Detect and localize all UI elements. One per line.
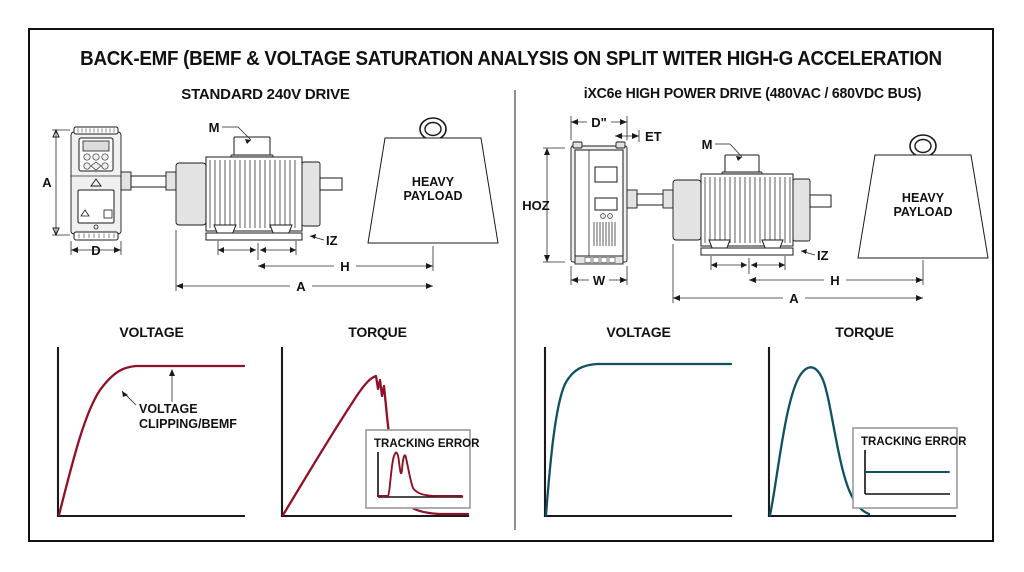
svg-text:D: D [91,243,100,258]
svg-text:IZ: IZ [326,233,338,248]
annotation-line1: VOLTAGE [139,402,198,416]
svg-text:H: H [830,273,839,288]
mechanical-assembly-ixc6e: D" ET [525,110,980,310]
dimension-h-ixc6e: H [749,260,923,288]
chart-svg-torque-standard: TRACKING ERROR [270,344,485,532]
svg-text:IZ: IZ [817,248,829,263]
chart-label-voltage-standard: VOLTAGE [44,324,259,340]
svg-text:H: H [340,259,349,274]
svg-text:A: A [296,279,306,294]
diagram-frame: BACK-EMF (BEMF & VOLTAGE SATURATION ANAL… [28,28,994,542]
inset-label-standard: TRACKING ERROR [374,438,480,450]
dimension-d-standard: D [71,241,121,258]
chart-svg-voltage-standard: VOLTAGE CLIPPING/BEMF [44,344,259,532]
chart-torque-ixc6e: TORQUE TRACKING ERROR [757,324,972,534]
svg-text:W: W [593,273,606,288]
svg-text:HEAVY: HEAVY [412,175,455,189]
panel-heading-standard: STANDARD 240V DRIVE [38,86,493,103]
dimension-iz-span-ixc6e [711,256,785,274]
motor-standard: M [176,120,342,240]
dimension-hoz-ixc6e: HOZ [522,148,565,262]
svg-text:M: M [209,120,220,135]
chart-label-torque-ixc6e: TORQUE [757,324,972,340]
panel-heading-ixc6e: iXC6e HIGH POWER DRIVE (480VAC / 680VDC … [532,86,973,102]
svg-text:M: M [702,137,713,152]
page-title: BACK-EMF (BEMF & VOLTAGE SATURATION ANAL… [59,48,963,71]
dimension-iz-standard: IZ [310,233,338,248]
svg-text:PAYLOAD: PAYLOAD [403,189,462,203]
charts-ixc6e: VOLTAGE TORQUE TRACKING ERROR [525,324,980,534]
svg-text:HOZ: HOZ [522,198,550,213]
svg-text:A: A [789,291,799,306]
heavy-payload-standard: HEAVY PAYLOAD [368,118,498,243]
svg-text:D": D" [591,115,607,130]
panel-divider [514,90,516,530]
vfd-drive-standard [71,127,121,240]
shaft-coupling-ixc6e [627,190,673,208]
chart-voltage-ixc6e: VOLTAGE [531,324,746,534]
chart-svg-torque-ixc6e: TRACKING ERROR [757,344,972,532]
dimension-iz-span-standard [218,241,296,260]
dimension-w-ixc6e: W [571,266,627,288]
chart-label-voltage-ixc6e: VOLTAGE [531,324,746,340]
vfd-drive-ixc6e [571,142,627,264]
chart-svg-voltage-ixc6e [531,344,746,532]
svg-text:A: A [42,175,52,190]
chart-torque-standard: TORQUE TRACKING ERROR [270,324,485,534]
dimension-iz-ixc6e: IZ [801,248,829,263]
chart-label-torque-standard: TORQUE [270,324,485,340]
dimension-a-vertical-standard: A [42,130,70,235]
charts-standard: VOLTAGE VOLTAGE CLIPPING/BEMF [38,324,493,534]
svg-text:ET: ET [645,129,662,144]
panel-standard-drive: STANDARD 240V DRIVE A [38,86,493,536]
svg-text:PAYLOAD: PAYLOAD [893,205,952,219]
inset-label-ixc6e: TRACKING ERROR [861,436,967,448]
mechanical-assembly-standard: A [38,110,493,310]
annotation-line2: CLIPPING/BEMF [139,417,237,431]
shaft-coupling-standard [121,172,176,190]
diagram-sheet: BACK-EMF (BEMF & VOLTAGE SATURATION ANAL… [0,0,1024,572]
motor-ixc6e: M [673,137,831,255]
chart-voltage-standard: VOLTAGE VOLTAGE CLIPPING/BEMF [44,324,259,534]
svg-text:HEAVY: HEAVY [902,191,945,205]
heavy-payload-ixc6e: HEAVY PAYLOAD [858,135,988,258]
panel-ixc6e-drive: iXC6e HIGH POWER DRIVE (480VAC / 680VDC … [525,86,980,536]
